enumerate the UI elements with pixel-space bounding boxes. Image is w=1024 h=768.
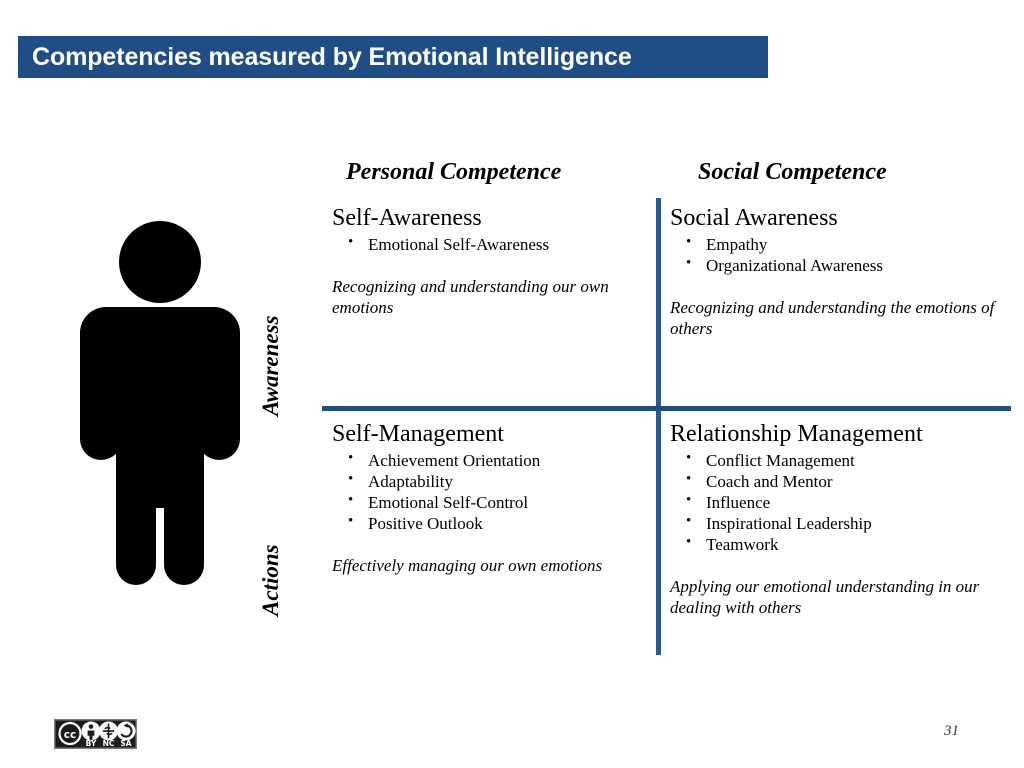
competency-list: Emotional Self-Awareness xyxy=(332,234,647,255)
list-item: Organizational Awareness xyxy=(670,255,1000,276)
quadrant-description: Recognizing and understanding our own em… xyxy=(332,277,647,318)
list-item: Coach and Mentor xyxy=(670,471,1000,492)
list-item: Positive Outlook xyxy=(332,513,647,534)
quadrant-title: Relationship Management xyxy=(670,422,1000,448)
column-header-personal-competence: Personal Competence xyxy=(346,159,561,186)
quadrant-title: Self-Awareness xyxy=(332,206,647,232)
list-item: Adaptability xyxy=(332,471,647,492)
list-item: Teamwork xyxy=(670,534,1000,555)
list-item: Influence xyxy=(670,492,1000,513)
competency-matrix: Personal Competence Social Competence Aw… xyxy=(0,0,1024,768)
quadrant-self-management: Self-Management Achievement Orientation … xyxy=(332,422,647,577)
list-item: Achievement Orientation xyxy=(332,450,647,471)
svg-text:NC: NC xyxy=(103,739,115,748)
list-item: Empathy xyxy=(670,234,1000,255)
creative-commons-by-nc-sa-badge[interactable]: cc BY NC SA xyxy=(54,719,137,749)
row-label-awareness: Awareness xyxy=(258,315,284,416)
list-item: Emotional Self-Awareness xyxy=(332,234,647,255)
quadrant-description: Applying our emotional understanding in … xyxy=(670,577,1000,618)
competency-list: Achievement Orientation Adaptability Emo… xyxy=(332,450,647,534)
quadrant-relationship-management: Relationship Management Conflict Managem… xyxy=(670,422,1000,619)
list-item: Emotional Self-Control xyxy=(332,492,647,513)
svg-text:cc: cc xyxy=(64,729,76,741)
quadrant-title: Self-Management xyxy=(332,422,647,448)
row-label-actions: Actions xyxy=(258,544,284,616)
page-number: 31 xyxy=(944,723,959,740)
vertical-divider xyxy=(656,198,661,655)
list-item: Inspirational Leadership xyxy=(670,513,1000,534)
svg-text:BY: BY xyxy=(86,739,97,748)
column-header-social-competence: Social Competence xyxy=(698,159,887,186)
competency-list: Empathy Organizational Awareness xyxy=(670,234,1000,276)
slide-canvas: Competencies measured by Emotional Intel… xyxy=(0,0,1024,768)
quadrant-social-awareness: Social Awareness Empathy Organizational … xyxy=(670,206,1000,340)
quadrant-self-awareness: Self-Awareness Emotional Self-Awareness … xyxy=(332,206,647,318)
horizontal-divider xyxy=(322,406,1011,411)
quadrant-title: Social Awareness xyxy=(670,206,1000,232)
quadrant-description: Recognizing and understanding the emotio… xyxy=(670,298,1000,339)
list-item: Conflict Management xyxy=(670,450,1000,471)
quadrant-description: Effectively managing our own emotions xyxy=(332,556,647,577)
competency-list: Conflict Management Coach and Mentor Inf… xyxy=(670,450,1000,555)
svg-text:SA: SA xyxy=(120,739,131,748)
